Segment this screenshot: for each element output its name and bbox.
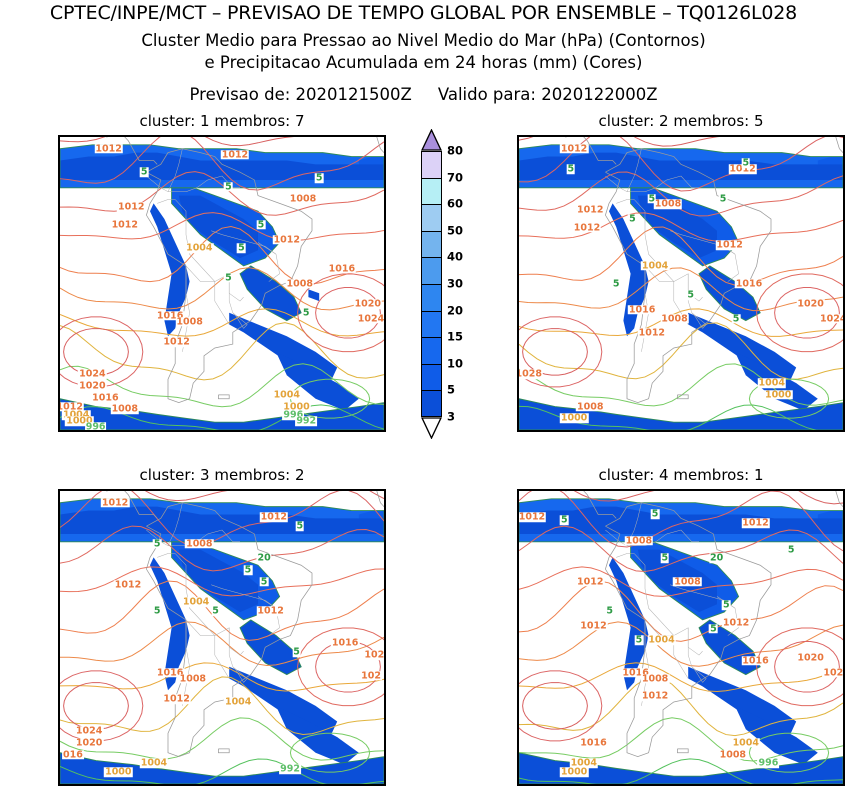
y-axis-tick [58,491,60,492]
precipitation-contour-label: 5 [709,624,718,634]
y-axis-tick [517,352,519,353]
x-axis-tick [366,784,367,786]
map-panel-cluster-4[interactable]: 15N10N5NEQ5S10S15S20S25S30S35S40S45S50S5… [517,489,845,786]
pressure-contour-label: 1020 [78,381,106,391]
x-axis-tick [645,784,646,786]
panel-title-cluster-2: cluster: 2 membros: 5 [517,112,845,130]
pressure-contour-label: 1008 [719,750,747,760]
precipitation-contour-label: 5 [302,308,311,318]
pressure-contour-label: 1012 [117,203,145,213]
x-axis-tick [537,430,538,432]
pressure-contour-label: 1000 [764,390,792,400]
pressure-contour-label: 1012 [579,621,607,631]
y-axis-tick [517,491,519,492]
panel-title-cluster-3: cluster: 3 membros: 2 [58,466,386,484]
pressure-contour-label: 1016 [331,639,359,649]
y-axis-tick [58,371,60,372]
y-axis-tick [58,235,60,236]
pressure-contour-label: 1008 [286,279,314,289]
forecast-time-line: Previsao de: 2020121500ZValido para: 202… [0,85,847,104]
pressure-contour-label: 992 [295,416,317,426]
y-axis-tick [58,274,60,275]
valid-for-label: Valido para: 2020122000Z [438,85,658,104]
pressure-contour-label: 1016 [328,264,356,274]
y-axis-tick [517,332,519,333]
y-axis-tick [58,332,60,333]
colorbar-tick-label: 70 [447,172,463,184]
pressure-contour-label: 1008 [289,194,317,204]
x-axis-tick [366,430,367,432]
x-axis-tick [186,430,187,432]
y-axis-tick [58,352,60,353]
pressure-contour-label: 1020 [354,299,382,309]
pressure-contour-label: 1012 [576,577,604,587]
y-axis-tick [517,667,519,668]
x-axis-tick [150,430,151,432]
map-canvas [60,137,384,430]
y-axis-tick [517,254,519,255]
x-axis-tick [114,430,115,432]
x-axis-tick [294,784,295,786]
y-axis-tick [517,706,519,707]
map-panel-cluster-2[interactable]: 15N10N5NEQ5S10S15S20S25S30S35S40S45S50S5… [517,135,845,432]
precipitation-contour-label: 5 [567,164,576,174]
colorbar-tick-label: 10 [447,358,463,370]
pressure-contour-label: 1012 [260,513,288,523]
pressure-contour-label: 1020 [796,653,824,663]
y-axis-tick [58,784,60,785]
colorbar-tick-label: 80 [447,145,463,157]
subtitle-line-2: e Precipitacao Acumulada em 24 horas (mm… [0,53,847,72]
pressure-contour-label: 1016 [741,656,769,666]
colorbar-under-arrow [421,417,442,439]
pressure-contour-label: 1024 [819,314,845,324]
pressure-contour-label: 996 [85,422,107,432]
panel-title-cluster-4: cluster: 4 membros: 1 [517,466,845,484]
precipitation-contour-label: 5 [257,220,266,230]
x-axis-tick [825,784,826,786]
x-axis-tick [186,784,187,786]
colorbar-tick-label: 15 [447,331,463,343]
pressure-contour-label: 1000 [560,768,588,778]
y-axis-tick [58,196,60,197]
precipitation-contour-label: 5 [660,554,669,564]
pressure-contour-label: 1012 [638,329,666,339]
pressure-contour-label: 1004 [641,261,669,271]
map-canvas [519,491,843,784]
pressure-contour-label: 1012 [573,223,601,233]
y-axis-tick [517,569,519,570]
pressure-contour-label: 1000 [104,768,132,778]
precipitation-contour-label: 5 [560,516,569,526]
x-axis-tick [681,784,682,786]
y-axis-tick [517,391,519,392]
pressure-contour-label: 1012 [741,518,769,528]
map-canvas [519,137,843,430]
precipitation-contour-label: 5 [628,214,637,224]
pressure-contour-label: 1024 [357,314,385,324]
colorbar-tick-label: 50 [447,225,463,237]
pressure-contour-label: 992 [279,765,301,775]
colorbar-tick-label: 40 [447,252,463,264]
x-axis-tick [222,430,223,432]
pressure-contour-label: 102 [360,671,382,681]
pressure-contour-label: 1008 [660,314,688,324]
y-axis-tick [517,589,519,590]
precipitation-contour-label: 5 [722,601,731,611]
pressure-contour-label: 1012 [221,150,249,160]
y-axis-tick [517,784,519,785]
y-axis-tick [517,628,519,629]
pressure-contour-label: 1008 [576,402,604,412]
pressure-contour-label: 1004 [732,738,760,748]
pressure-contour-label: 1024 [78,370,106,380]
colorbar-segment [421,204,442,231]
precipitation-contour-label: 5 [260,577,269,587]
pressure-contour-label: 1012 [162,337,190,347]
pressure-contour-label: 1004 [647,636,675,646]
y-axis-tick [58,254,60,255]
y-axis-tick [517,530,519,531]
x-axis-tick [717,784,718,786]
y-axis-tick [58,686,60,687]
pressure-contour-label: 1016 [91,393,119,403]
x-axis-tick [573,784,574,786]
y-axis-tick [58,745,60,746]
precipitation-contour-label: 20 [709,554,724,564]
colorbar-segment [421,311,442,338]
x-axis-tick [789,784,790,786]
colorbar-segment [421,364,442,391]
precipitation-contour-label: 5 [315,173,324,183]
pressure-contour-label: 1016 [579,738,607,748]
precipitation-contour-label: 5 [605,606,614,616]
x-axis-tick [114,784,115,786]
y-axis-tick [58,589,60,590]
y-axis-tick [58,628,60,629]
pressure-contour-label: 1008 [175,317,203,327]
pressure-contour-label: 1004 [224,697,252,707]
x-axis-tick [222,784,223,786]
pressure-contour-label: 1012 [715,241,743,251]
x-axis-tick [537,784,538,786]
panel-title-cluster-1: cluster: 1 membros: 7 [58,112,386,130]
y-axis-tick [517,235,519,236]
x-axis-tick [717,430,718,432]
y-axis-tick [58,667,60,668]
y-axis-tick [517,293,519,294]
pressure-contour-label: 1004 [182,598,210,608]
colorbar-segment [421,178,442,205]
x-axis-tick [258,784,259,786]
y-axis-tick [58,706,60,707]
subtitle-line-1: Cluster Medio para Pressao ao Nivel Medi… [0,31,847,50]
pressure-contour-label: 1004 [273,390,301,400]
y-axis-tick [58,176,60,177]
precipitation-contour-label: 5 [224,273,233,283]
x-axis-tick [330,430,331,432]
colorbar-segment [421,151,442,178]
pressure-contour-label: 1004 [185,244,213,254]
y-axis-tick [58,530,60,531]
y-axis-tick [517,215,519,216]
colorbar-tick-label: 30 [447,278,463,290]
y-axis-tick [58,313,60,314]
x-axis-tick [294,430,295,432]
y-axis-tick [58,569,60,570]
precipitation-contour-label: 5 [292,647,301,657]
colorbar-over-arrow [421,129,442,151]
pressure-contour-label: 1012 [576,206,604,216]
pressure-contour-label: 016 [62,750,84,760]
y-axis-tick [517,745,519,746]
pressure-contour-label: 1012 [722,618,750,628]
y-axis-tick [58,293,60,294]
precipitation-contour-label: 5 [612,279,621,289]
x-axis-tick [681,430,682,432]
y-axis-tick [517,430,519,431]
pressure-contour-label: 1012 [273,235,301,245]
pressure-contour-label: 1008 [625,536,653,546]
pressure-contour-label: 1008 [641,674,669,684]
y-axis-tick [517,410,519,411]
pressure-contour-label: 1008 [111,405,139,415]
x-axis-tick [789,430,790,432]
pressure-contour-label: 1012 [518,513,546,523]
pressure-contour-label: 1000 [560,414,588,424]
precipitation-contour-label: 5 [211,606,220,616]
pressure-contour-label: 1008 [654,200,682,210]
precipitation-contour-label: 5 [153,539,162,549]
pressure-contour-label: 1012 [94,144,122,154]
y-axis-tick [517,725,519,726]
y-axis-tick [58,608,60,609]
precipitation-colorbar: 80706050403020151053 [421,129,442,439]
pressure-contour-label: 1008 [185,539,213,549]
precipitation-contour-label: 5 [787,545,796,555]
pressure-contour-label: 1008 [673,577,701,587]
y-axis-tick [58,550,60,551]
y-axis-tick [58,647,60,648]
x-axis-tick [753,784,754,786]
y-axis-tick [517,608,519,609]
y-axis-tick [58,511,60,512]
y-axis-tick [517,550,519,551]
x-axis-tick [573,430,574,432]
colorbar-segment [421,284,442,311]
y-axis-tick [58,137,60,138]
y-axis-tick [58,391,60,392]
pressure-contour-label: 1012 [560,144,588,154]
x-axis-tick [78,784,79,786]
precipitation-contour-label: 5 [648,194,657,204]
colorbar-segment [421,337,442,364]
precipitation-contour-label: 5 [140,167,149,177]
pressure-contour-label: 1024 [75,727,103,737]
map-panel-cluster-1[interactable]: 15N10N5NEQ5S10S15S20S25S30S35S40S45S50S5… [58,135,386,432]
y-axis-tick [517,686,519,687]
precipitation-contour-label: 5 [651,510,660,520]
pressure-contour-label: 1004 [757,378,785,388]
colorbar-segment [421,390,442,417]
precipitation-contour-label: 20 [256,554,271,564]
y-axis-tick [517,313,519,314]
y-axis-tick [517,137,519,138]
x-axis-tick [258,430,259,432]
y-axis-tick [517,196,519,197]
y-axis-tick [517,157,519,158]
colorbar-tick-label: 3 [447,411,455,423]
colorbar-tick-label: 60 [447,198,463,210]
precipitation-contour-label: 5 [635,636,644,646]
y-axis-tick [517,274,519,275]
pressure-contour-label: 1008 [179,674,207,684]
pressure-contour-label: 102 [822,668,844,678]
x-axis-tick [150,784,151,786]
precipitation-contour-label: 5 [237,244,246,254]
x-axis-tick [78,430,79,432]
precipitation-contour-label: 5 [153,606,162,616]
precipitation-contour-label: 5 [686,290,695,300]
pressure-contour-label: 1016 [628,305,656,315]
pressure-contour-label: 102 [363,650,385,660]
x-axis-tick [645,430,646,432]
colorbar-segment [421,231,442,258]
precipitation-contour-label: 5 [741,159,750,169]
precipitation-contour-label: 5 [244,565,253,575]
page-title: CPTEC/INPE/MCT – PREVISAO DE TEMPO GLOBA… [0,2,847,24]
precipitation-contour-label: 5 [224,182,233,192]
y-axis-tick [517,764,519,765]
y-axis-tick [58,430,60,431]
pressure-contour-label: 1020 [75,738,103,748]
pressure-contour-label: 1012 [101,498,129,508]
x-axis-tick [330,784,331,786]
pressure-contour-label: 1012 [256,606,284,616]
colorbar-tick-label: 20 [447,305,463,317]
x-axis-tick [825,430,826,432]
pressure-contour-label: 996 [758,759,780,769]
map-panel-cluster-3[interactable]: 15N10N5NEQ5S10S15S20S25S30S35S40S45S50S5… [58,489,386,786]
pressure-contour-label: 1012 [114,580,142,590]
y-axis-tick [58,725,60,726]
colorbar-segment [421,257,442,284]
pressure-contour-label: 1028 [517,370,543,380]
pressure-contour-label: 1016 [735,279,763,289]
pressure-contour-label: 1012 [162,694,190,704]
x-axis-tick [753,430,754,432]
y-axis-tick [58,764,60,765]
y-axis-tick [517,647,519,648]
precipitation-contour-label: 5 [295,521,304,531]
y-axis-tick [58,215,60,216]
x-axis-tick [609,430,610,432]
y-axis-tick [517,176,519,177]
pressure-contour-label: 1020 [796,299,824,309]
forecast-from-label: Previsao de: 2020121500Z [189,85,411,104]
pressure-contour-label: 1012 [111,220,139,230]
x-axis-tick [609,784,610,786]
pressure-contour-label: 1012 [641,691,669,701]
y-axis-tick [58,157,60,158]
pressure-contour-label: 1004 [140,759,168,769]
precipitation-contour-label: 5 [719,194,728,204]
colorbar-tick-label: 5 [447,385,455,397]
precipitation-contour-label: 5 [732,314,741,324]
